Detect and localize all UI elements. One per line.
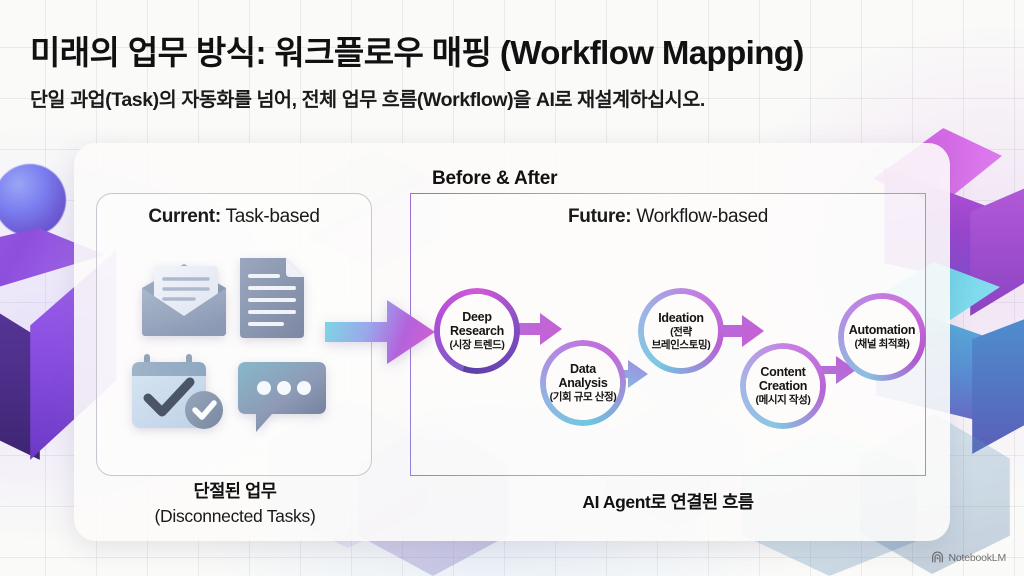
left-caption-english: (Disconnected Tasks) bbox=[100, 506, 370, 527]
page-header: 미래의 업무 방식: 워크플로우 매핑 (Workflow Mapping) 단… bbox=[0, 0, 1024, 112]
node-subtitle-content-creation: (메시지 작성) bbox=[755, 394, 810, 406]
email-icon bbox=[136, 260, 232, 338]
workflow-node-content-creation[interactable]: Content Creation (메시지 작성) bbox=[740, 343, 826, 429]
current-panel-heading-strong: Current: bbox=[148, 206, 221, 227]
notebooklm-watermark: NotebookLM bbox=[931, 551, 1006, 564]
node-subtitle-data-analysis: (기회 규모 산정) bbox=[550, 391, 617, 403]
left-caption-korean: 단절된 업무 bbox=[100, 478, 370, 503]
document-icon bbox=[234, 254, 308, 340]
node-subtitle-automation: (채널 최적화) bbox=[849, 338, 915, 350]
future-panel-heading-strong: Future: bbox=[568, 206, 631, 227]
node-title-content-creation-line1: Content bbox=[755, 365, 810, 379]
calendar-check-icon bbox=[128, 350, 232, 432]
node-title-data-analysis-line1: Data bbox=[550, 362, 617, 376]
future-panel-heading: Future: Workflow-based bbox=[411, 206, 925, 228]
page-title: 미래의 업무 방식: 워크플로우 매핑 (Workflow Mapping) bbox=[30, 26, 1024, 74]
workflow-node-deep-research[interactable]: Deep Research (시장 트렌드) bbox=[434, 288, 520, 374]
current-panel-heading: Current: Task-based bbox=[97, 206, 371, 228]
node-title-deep-research-line2: Research bbox=[449, 324, 504, 338]
workflow-node-data-analysis[interactable]: Data Analysis (기회 규모 산정) bbox=[540, 340, 626, 426]
chat-bubble-icon bbox=[236, 358, 328, 436]
notebooklm-watermark-label: NotebookLM bbox=[948, 552, 1006, 564]
node-subtitle-deep-research: (시장 트렌드) bbox=[449, 339, 504, 351]
before-after-label: Before & After bbox=[432, 168, 557, 190]
left-panel-caption: 단절된 업무 (Disconnected Tasks) bbox=[100, 478, 370, 527]
workflow-node-ideation[interactable]: Ideation (전략 브레인스토밍) bbox=[638, 288, 724, 374]
right-caption-text: AI Agent로 연결된 흐름 bbox=[410, 489, 926, 514]
transition-arrow-icon bbox=[325, 294, 437, 370]
disconnected-task-icons bbox=[128, 254, 338, 444]
future-panel-heading-rest: Workflow-based bbox=[631, 206, 768, 227]
notebooklm-logo-icon bbox=[931, 551, 944, 564]
right-panel-caption: AI Agent로 연결된 흐름 bbox=[410, 489, 926, 514]
node-title-deep-research-line1: Deep bbox=[449, 310, 504, 324]
node-title-ideation: Ideation bbox=[652, 311, 711, 325]
page-subtitle: 단일 과업(Task)의 자동화를 넘어, 전체 업무 흐름(Workflow)… bbox=[30, 83, 1024, 112]
node-title-data-analysis-line2: Analysis bbox=[550, 376, 617, 390]
node-title-automation: Automation bbox=[849, 323, 915, 337]
node-subtitle-ideation: (전략 브레인스토밍) bbox=[652, 326, 711, 350]
node-title-content-creation-line2: Creation bbox=[755, 379, 810, 393]
workflow-node-automation[interactable]: Automation (채널 최적화) bbox=[838, 293, 926, 381]
current-panel-heading-rest: Task-based bbox=[221, 206, 320, 227]
